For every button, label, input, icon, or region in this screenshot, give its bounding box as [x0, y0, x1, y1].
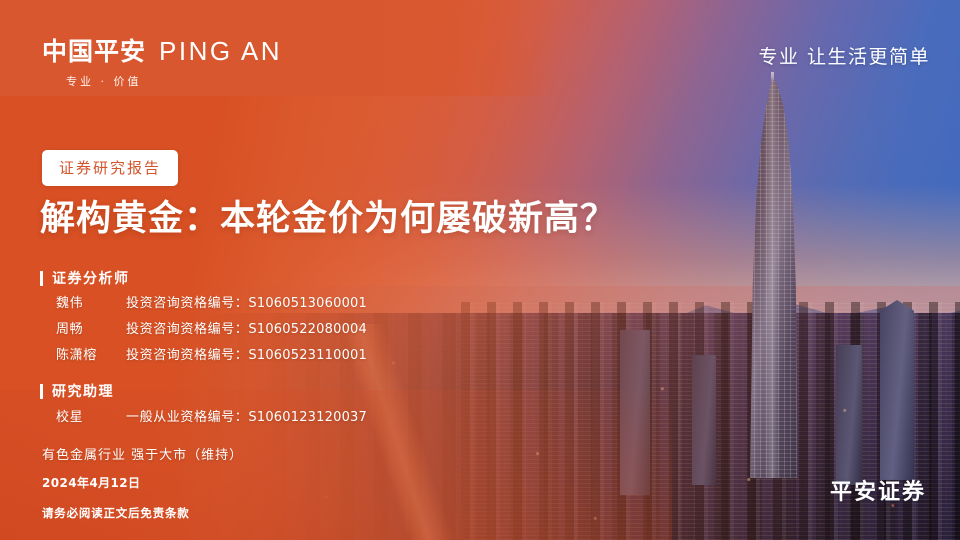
report-date: 2024年4月12日 — [42, 474, 140, 491]
analysts-section-header: 证券分析师 — [40, 268, 130, 288]
logo-subtitle: 专业 · 价值 — [66, 73, 282, 89]
analyst-cert-no: S1060522080004 — [248, 322, 367, 337]
assistants-section-label: 研究助理 — [52, 381, 114, 401]
assistant-row: 校星 一般从业资格编号： S1060123120037 — [56, 406, 367, 425]
analyst-row: 魏伟 投资咨询资格编号： S1060513060001 — [56, 292, 367, 311]
ping-an-securities-brand: 平安证券 — [830, 474, 926, 506]
industry-rating-line: 有色金属行业 强于大市（维持） — [42, 444, 243, 463]
assistant-cert-label: 一般从业资格编号： — [126, 406, 248, 425]
analyst-cert-no: S1060513060001 — [248, 296, 367, 311]
analyst-name: 魏伟 — [56, 292, 126, 311]
assistant-cert-no: S1060123120037 — [248, 410, 367, 425]
analyst-row: 陈潇榕 投资咨询资格编号： S1060523110001 — [56, 344, 367, 363]
disclaimer-text: 请务必阅读正文后免责条款 — [42, 505, 190, 521]
section-accent-bar — [40, 384, 43, 399]
report-title: 解构黄金：本轮金价为何屡破新高？ — [40, 198, 616, 240]
analyst-cert-no: S1060523110001 — [248, 348, 367, 363]
ping-an-logo[interactable]: 中国平安 PING AN 专业 · 价值 — [42, 38, 282, 89]
report-cover: 中国平安 PING AN 专业 · 价值 专业 让生活更简单 证券研究报告 解构… — [0, 0, 960, 540]
analyst-row: 周畅 投资咨询资格编号： S1060522080004 — [56, 318, 367, 337]
analyst-cert-label: 投资咨询资格编号： — [126, 292, 248, 311]
report-type-badge: 证券研究报告 — [42, 150, 178, 186]
assistants-section-header: 研究助理 — [40, 381, 114, 401]
analyst-name: 陈潇榕 — [56, 344, 126, 363]
analyst-cert-label: 投资咨询资格编号： — [126, 318, 248, 337]
logo-chinese-wordmark: 中国平安 — [42, 39, 146, 64]
analyst-cert-label: 投资咨询资格编号： — [126, 344, 248, 363]
brand-slogan: 专业 让生活更简单 — [758, 42, 930, 69]
analyst-name: 周畅 — [56, 318, 126, 337]
assistant-name: 校星 — [56, 406, 126, 425]
logo-english-wordmark: PING AN — [159, 38, 282, 64]
analysts-section-label: 证券分析师 — [52, 268, 130, 288]
cover-content: 中国平安 PING AN 专业 · 价值 专业 让生活更简单 证券研究报告 解构… — [0, 0, 960, 540]
section-accent-bar — [40, 271, 43, 286]
logo-lockup: 中国平安 PING AN — [42, 38, 282, 64]
